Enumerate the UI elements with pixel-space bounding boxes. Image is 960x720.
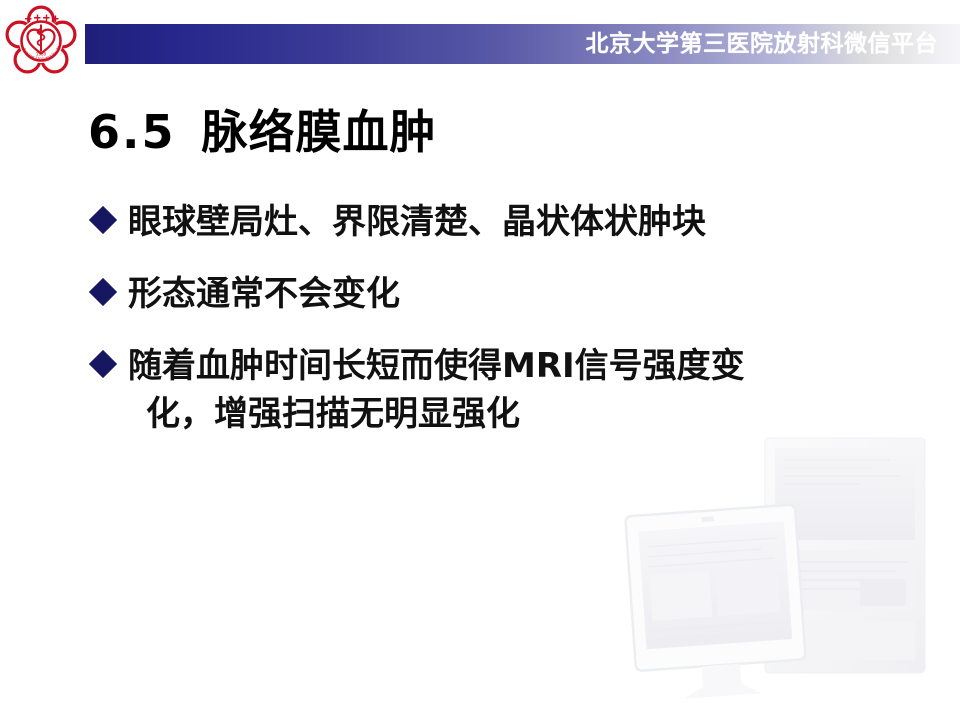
- list-item-text: 眼球壁局灶、界限清楚、晶状体状肿块: [128, 198, 918, 246]
- svg-text:1958: 1958: [36, 52, 47, 57]
- list-item-line-1: 眼球壁局灶、界限清楚、晶状体状肿块: [128, 202, 706, 242]
- list-item-line-2: 化，增强扫描无明显强化: [128, 390, 918, 438]
- diamond-bullet-icon: [89, 278, 117, 306]
- diamond-bullet-icon: [89, 206, 117, 234]
- bullet-list: 眼球壁局灶、界限清楚、晶状体状肿块 形态通常不会变化 随着血肿时间长短而使得MR…: [88, 198, 918, 462]
- list-item: 形态通常不会变化: [88, 270, 918, 318]
- computer-monitors-watermark-icon: [560, 430, 960, 720]
- page-title-heading: 脉络膜血肿: [202, 105, 437, 159]
- list-item-text: 形态通常不会变化: [128, 270, 918, 318]
- slide-canvas: 北京大学第三医院放射科微信平台: [0, 0, 960, 720]
- list-item-line-1: 形态通常不会变化: [128, 274, 400, 314]
- page-title-number: 6.5: [88, 105, 176, 159]
- list-item-line-1: 随着血肿时间长短而使得MRI信号强度变: [128, 346, 745, 386]
- hospital-logo-icon: 1958 Peking University Third Hospital: [4, 4, 78, 78]
- list-item: 眼球壁局灶、界限清楚、晶状体状肿块: [88, 198, 918, 246]
- header-title: 北京大学第三医院放射科微信平台: [586, 26, 939, 62]
- page-title: 6.5脉络膜血肿: [88, 96, 437, 162]
- diamond-bullet-icon: [89, 350, 117, 378]
- list-item-text: 随着血肿时间长短而使得MRI信号强度变 化，增强扫描无明显强化: [128, 342, 918, 438]
- list-item: 随着血肿时间长短而使得MRI信号强度变 化，增强扫描无明显强化: [88, 342, 918, 438]
